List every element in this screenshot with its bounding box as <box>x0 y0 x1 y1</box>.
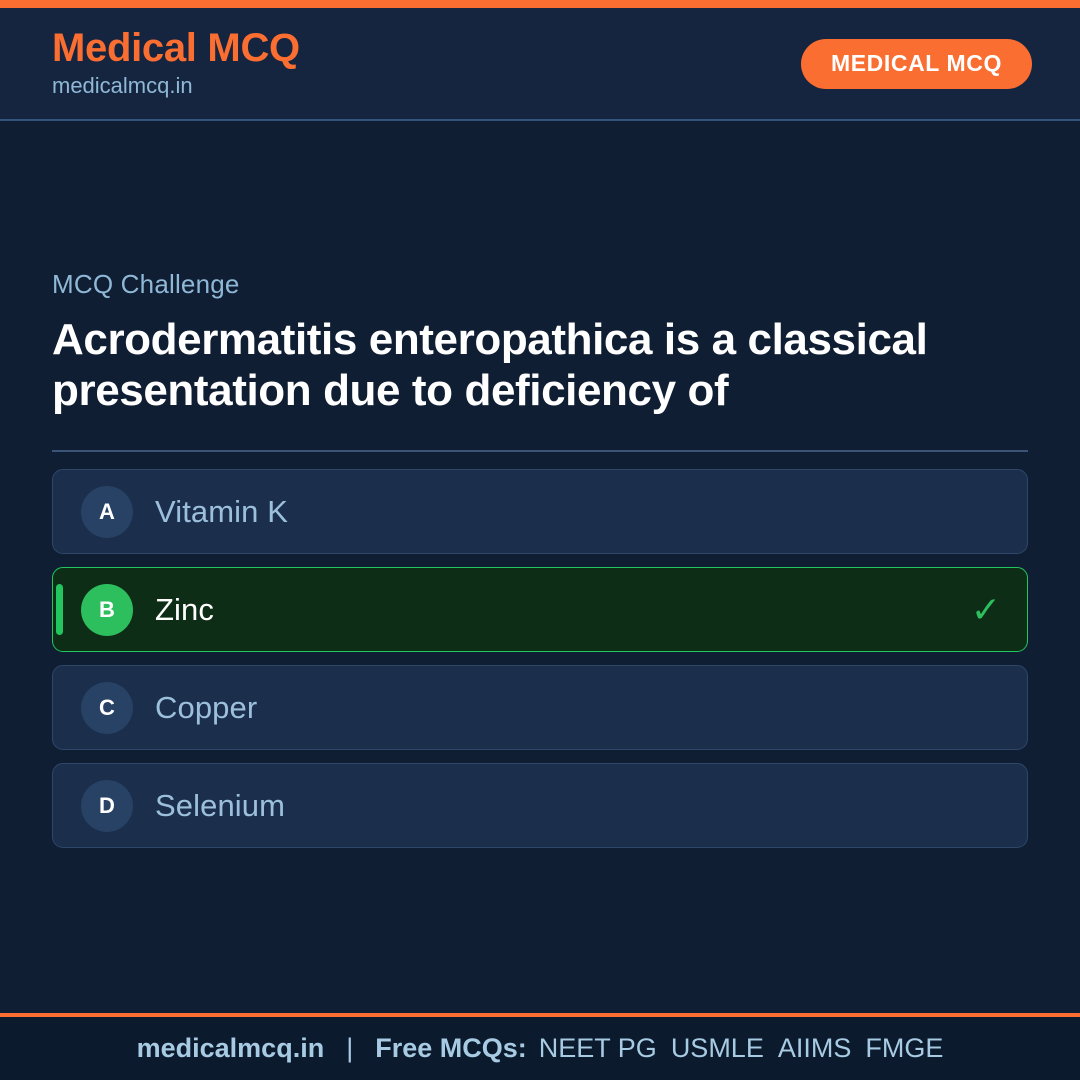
footer-text: medicalmcq.in | Free MCQs: NEET PG USMLE… <box>137 1035 944 1062</box>
option-c[interactable]: C Copper <box>52 665 1028 750</box>
option-b[interactable]: B Zinc ✓ <box>52 567 1028 652</box>
question-block: MCQ Challenge Acrodermatitis enteropathi… <box>52 269 1028 416</box>
header-badge: MEDICAL MCQ <box>801 39 1032 89</box>
option-letter-badge: D <box>81 780 133 832</box>
page-header: Medical MCQ medicalmcq.in MEDICAL MCQ <box>0 8 1080 121</box>
footer-exam-neet-pg: NEET PG <box>539 1035 657 1062</box>
footer-exam-usmle: USMLE <box>671 1035 764 1062</box>
footer-exam-fmge: FMGE <box>865 1035 943 1062</box>
option-d[interactable]: D Selenium <box>52 763 1028 848</box>
correct-accent-bar <box>56 584 63 635</box>
page-footer: medicalmcq.in | Free MCQs: NEET PG USMLE… <box>0 1013 1080 1080</box>
option-label: Zinc <box>155 593 214 627</box>
checkmark-icon: ✓ <box>971 592 1001 628</box>
question-text: Acrodermatitis enteropathica is a classi… <box>52 314 1028 416</box>
footer-exam-aiims: AIIMS <box>778 1035 852 1062</box>
brand-block: Medical MCQ medicalmcq.in <box>52 27 300 101</box>
option-label: Vitamin K <box>155 495 288 529</box>
option-label: Copper <box>155 691 257 725</box>
footer-separator: | <box>346 1035 353 1062</box>
brand-title: Medical MCQ <box>52 27 300 69</box>
brand-subtitle: medicalmcq.in <box>52 72 300 101</box>
option-a[interactable]: A Vitamin K <box>52 469 1028 554</box>
question-kicker: MCQ Challenge <box>52 269 1028 300</box>
main-content: MCQ Challenge Acrodermatitis enteropathi… <box>0 121 1080 1013</box>
top-accent-bar <box>0 0 1080 8</box>
option-letter-badge: A <box>81 486 133 538</box>
options-list: A Vitamin K B Zinc ✓ C Copper D Selenium <box>52 469 1028 848</box>
footer-site-link[interactable]: medicalmcq.in <box>137 1035 325 1062</box>
question-divider <box>52 450 1028 452</box>
option-letter-badge: C <box>81 682 133 734</box>
footer-label: Free MCQs: <box>375 1035 527 1062</box>
option-letter-badge: B <box>81 584 133 636</box>
option-label: Selenium <box>155 789 285 823</box>
